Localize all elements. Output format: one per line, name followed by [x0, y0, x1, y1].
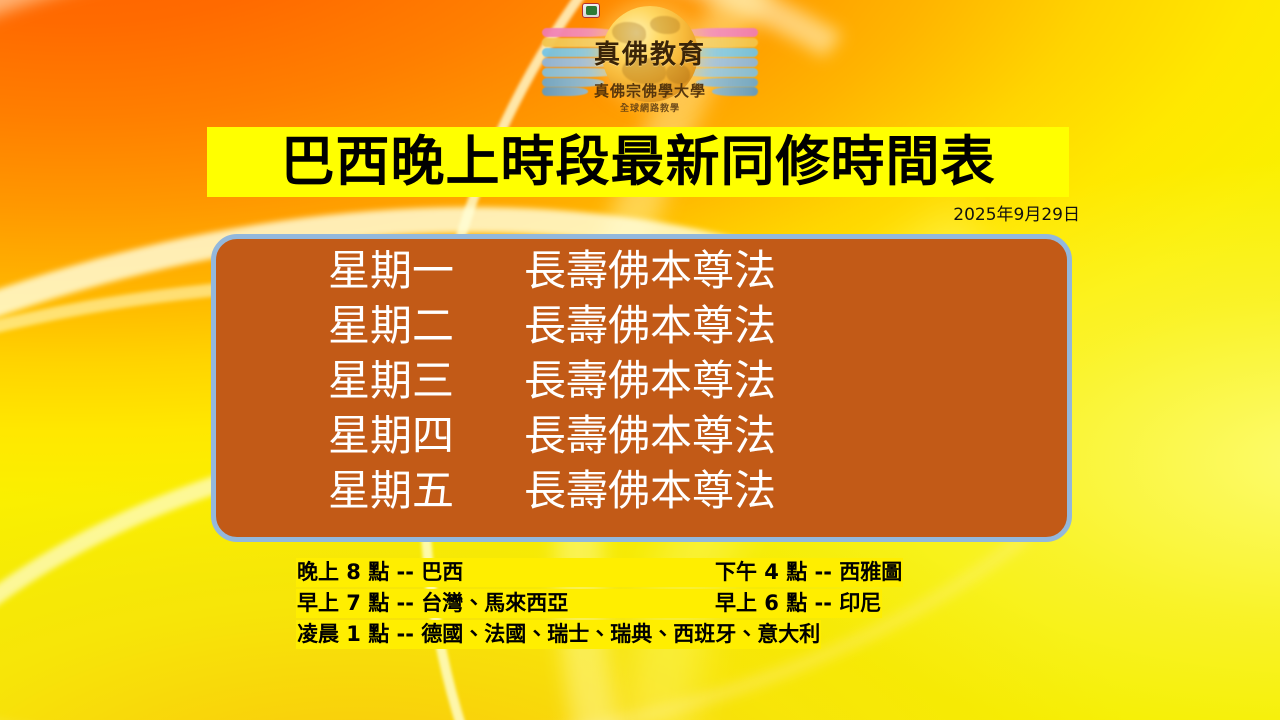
row-day-label: 星期一 [328, 250, 524, 292]
timezone-right-label: 下午 4 點 -- 西雅圖 [714, 558, 903, 587]
timezone-left-label: 早上 7 點 -- 台灣、馬來西亞 [296, 589, 714, 618]
table-row: 星期二 長壽佛本尊法 [216, 305, 1067, 360]
row-day-label: 星期四 [328, 415, 524, 457]
row-day-label: 星期五 [328, 470, 524, 512]
date-label: 2025年9月29日 [0, 200, 1080, 225]
organization-logo: 真佛教育 真佛宗佛學大學 全球網路教學 [540, 0, 760, 128]
row-practice-label: 長壽佛本尊法 [524, 360, 776, 402]
table-row: 星期五 長壽佛本尊法 [216, 470, 1067, 525]
logo-main-calligraphy: 真佛教育 [540, 34, 760, 71]
row-practice-label: 長壽佛本尊法 [524, 305, 776, 347]
row-day-label: 星期二 [328, 305, 524, 347]
logo-sub-text: 真佛宗佛學大學 [540, 80, 760, 101]
page-title: 巴西晚上時段最新同修時間表 [281, 135, 996, 189]
schedule-panel: 星期一 長壽佛本尊法 星期二 長壽佛本尊法 星期三 長壽佛本尊法 星期四 長壽佛… [211, 234, 1072, 542]
row-practice-label: 長壽佛本尊法 [524, 415, 776, 457]
table-row: 星期三 長壽佛本尊法 [216, 360, 1067, 415]
timezone-line: 早上 7 點 -- 台灣、馬來西亞 早上 6 點 -- 印尼 [296, 588, 996, 619]
logo-sub-text-secondary: 全球網路教學 [540, 101, 760, 114]
slide-canvas: 真佛教育 真佛宗佛學大學 全球網路教學 巴西晚上時段最新同修時間表 2025年9… [0, 0, 1280, 720]
timezone-right-label: 早上 6 點 -- 印尼 [714, 589, 882, 618]
timezone-line: 凌晨 1 點 -- 德國、法國、瑞士、瑞典、西班牙、意大利 [296, 619, 996, 650]
timezone-full-label: 凌晨 1 點 -- 德國、法國、瑞士、瑞典、西班牙、意大利 [296, 620, 821, 649]
timezone-footer: 晚上 8 點 -- 巴西 下午 4 點 -- 西雅圖 早上 7 點 -- 台灣、… [296, 557, 996, 650]
timezone-line: 晚上 8 點 -- 巴西 下午 4 點 -- 西雅圖 [296, 557, 996, 588]
table-row: 星期四 長壽佛本尊法 [216, 415, 1067, 470]
table-row: 星期一 長壽佛本尊法 [216, 250, 1067, 305]
row-day-label: 星期三 [328, 360, 524, 402]
crest-icon [582, 3, 600, 18]
row-practice-label: 長壽佛本尊法 [524, 250, 776, 292]
title-banner: 巴西晚上時段最新同修時間表 [207, 127, 1069, 197]
timezone-left-label: 晚上 8 點 -- 巴西 [296, 558, 714, 587]
row-practice-label: 長壽佛本尊法 [524, 470, 776, 512]
